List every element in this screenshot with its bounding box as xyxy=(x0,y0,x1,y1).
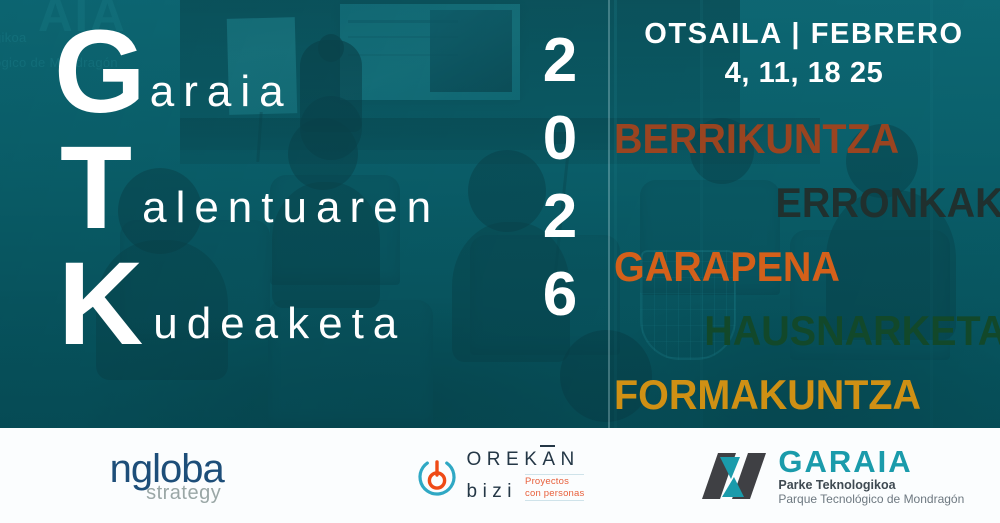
gtk-title-lockup: G araia T alentuaren K udeaketa xyxy=(0,0,520,428)
gtk-word-udeaketa: udeaketa xyxy=(153,299,406,349)
gtk-initial-k: K xyxy=(58,256,143,353)
garaia-wordmark: GARAIA xyxy=(778,446,964,477)
gtk-initial-t: T xyxy=(60,140,132,237)
orekan-circle-icon xyxy=(416,455,458,497)
year-digit-3: 2 xyxy=(543,178,577,256)
logo-garaia[interactable]: GARAIA Parke Teknologikoa Parque Tecnoló… xyxy=(667,428,1000,523)
year-digit-1: 2 xyxy=(543,22,577,100)
orekan-tagline: Proyectos con personas xyxy=(525,474,584,500)
garaia-subtitle-eu: Parke Teknologikoa xyxy=(778,479,964,492)
sponsor-logo-bar: ngloba strategy OREKAN xyxy=(0,428,1000,523)
ngloba-tagline: strategy xyxy=(144,483,224,503)
orekan-macron-accent xyxy=(540,445,555,447)
gtk-line-garaia: G araia xyxy=(54,24,293,123)
year-digit-2: 0 xyxy=(543,100,577,178)
year-digit-4: 6 xyxy=(543,256,577,334)
garaia-chevron-icon xyxy=(702,453,768,499)
event-banner: AIA gikoa ógico de Mondragón G araia T a… xyxy=(0,0,1000,523)
logo-ngloba[interactable]: ngloba strategy xyxy=(0,428,333,523)
event-month: OTSAILA | FEBRERO xyxy=(608,18,1000,51)
gtk-word-alentuaren: alentuaren xyxy=(142,183,440,233)
gtk-line-talentuaren: T alentuaren xyxy=(60,140,440,239)
keyword-erronkak: ERRONKAK xyxy=(776,182,1000,224)
event-days: 4, 11, 18 25 xyxy=(608,57,1000,90)
keyword-hausnarketa: HAUSNARKETA xyxy=(704,310,1000,352)
hero-section: AIA gikoa ógico de Mondragón G araia T a… xyxy=(0,0,1000,428)
orekan-tagline-l2: con personas xyxy=(525,488,584,499)
right-content: OTSAILA | FEBRERO 4, 11, 18 25 BERRIKUNT… xyxy=(608,0,1000,428)
orekan-tagline-l1: Proyectos xyxy=(525,476,584,487)
garaia-subtitle-es: Parque Tecnológico de Mondragón xyxy=(778,493,964,505)
orekan-wordmark-text: OREKAN xyxy=(467,449,580,470)
orekan-bizi-text: bizi xyxy=(467,482,518,501)
keyword-garapena: GARAPENA xyxy=(614,246,840,288)
gtk-initial-g: G xyxy=(54,24,146,121)
year-column: 2 0 2 6 xyxy=(528,22,592,334)
orekan-wordmark: OREKAN xyxy=(467,450,580,469)
gtk-word-araia: araia xyxy=(150,67,293,117)
keyword-berrikuntza: BERRIKUNTZA xyxy=(614,118,899,160)
gtk-line-kudeaketa: K udeaketa xyxy=(58,256,406,355)
keyword-formakuntza: FORMAKUNTZA xyxy=(614,374,921,416)
event-date: OTSAILA | FEBRERO 4, 11, 18 25 xyxy=(608,18,1000,90)
logo-orekan-bizi[interactable]: OREKAN bizi Proyectos con personas xyxy=(333,428,666,523)
